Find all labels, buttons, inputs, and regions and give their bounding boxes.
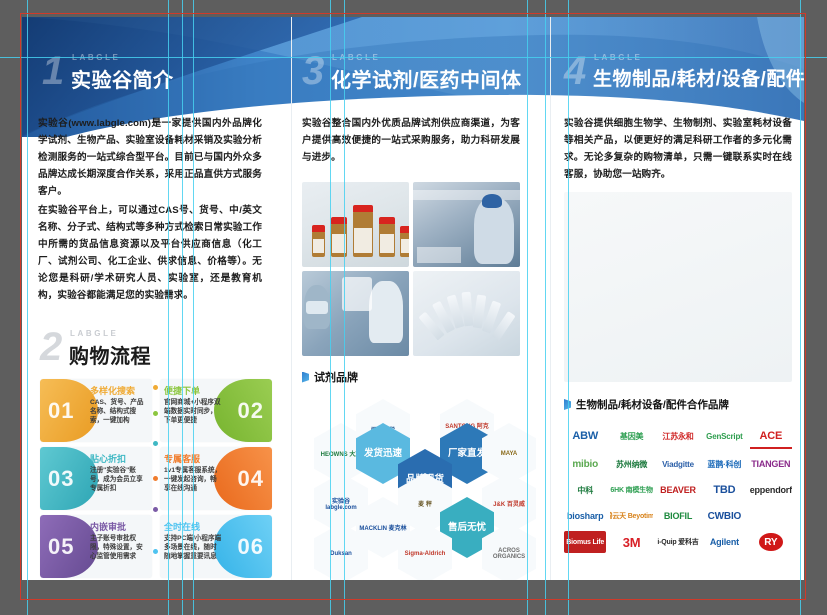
reagent-brand-honeycomb: 强盛化学 SANTONG 阿克索 HEOWNS 大茂 发货迅速 厂家直发 MAY… [300, 399, 524, 579]
partner-logo [750, 505, 792, 527]
process-step[interactable]: 02 便捷下单 官网商城+小程序双端数据实时同步，下单更便捷 [160, 379, 272, 442]
intro-paragraph-2: 在实验谷平台上，可以通过CAS号、货号、中/英文名称、分子式、结构式等多种方式检… [38, 202, 262, 304]
partner-logo: CWBIO [703, 505, 745, 527]
lab-staff-photo [302, 271, 409, 356]
process-step[interactable]: 05 内嵌审批 主子账号审批权限，特殊设置，安心监管使用需求 [40, 515, 152, 578]
guide-vertical [344, 0, 345, 615]
section-heading: 实验谷简介 [71, 64, 174, 93]
hex-brand-label: MACKLIN 麦克林 [356, 520, 409, 535]
partner-logo: RY [759, 533, 783, 551]
step-title: 多样化搜索 [90, 385, 148, 397]
step-index: 01 [48, 398, 74, 424]
partner-logo-grid: ABW 基因美 江苏永和 GenScript ACE mibio 苏州纳微 Vi… [564, 425, 792, 553]
step-title: 内嵌审批 [90, 521, 148, 533]
guide-vertical [168, 0, 169, 615]
fold-line [291, 17, 292, 580]
section-heading: 购物流程 [69, 340, 151, 369]
hex-brand-label: MAYA [498, 448, 521, 460]
step-index: 06 [238, 534, 264, 560]
guide-horizontal [0, 57, 827, 58]
reagent-paragraph: 实验谷整合国内外优质品牌试剂供应商渠道，为客户提供高效便捷的一站式采购服务，助力… [302, 115, 520, 166]
section-heading: 化学试剂/医药中间体 [331, 64, 522, 93]
connector-dot [153, 411, 158, 416]
step-index: 03 [48, 466, 74, 492]
hex-core-label: 发货迅速 [364, 447, 402, 460]
shopping-process-steps: 01 多样化搜索 CAS、货号、产品名称、结构式搜索，一键加构 02 便捷下单 … [40, 379, 272, 579]
guide-vertical [527, 0, 528, 615]
fume-hood-technician-photo [413, 182, 520, 267]
partner-logo: Viadgitte [657, 453, 699, 475]
step-desc: CAS、货号、产品名称、结构式搜索，一键加构 [90, 398, 148, 425]
partner-logo: TIANGEN [750, 453, 792, 475]
guide-vertical [330, 0, 331, 615]
process-step[interactable]: 04 专属客服 1v1专属客服系统，一键发起咨询，畅享在线沟通 [160, 447, 272, 510]
connector-dot [153, 441, 158, 446]
guide-vertical [545, 0, 546, 615]
partner-logo: TBD [703, 479, 745, 501]
partner-logo: 碧云天 Beyotime [610, 505, 652, 527]
partner-brands-heading: 生物制品/耗材设备/配件合作品牌 [576, 397, 729, 412]
partner-logo: eppendorf [750, 479, 792, 501]
guide-vertical [193, 0, 194, 615]
partner-logo: Biomus Life [564, 531, 606, 553]
partner-logo: 6HK 南模生物 [610, 479, 652, 501]
guide-vertical [800, 0, 801, 615]
partner-logo: BIOFIL [657, 505, 699, 527]
bioproducts-image-placeholder [564, 192, 792, 382]
partner-logo: 中科 [564, 479, 606, 501]
reagent-bottles-photo [302, 182, 409, 267]
guide-vertical [568, 0, 569, 615]
partner-brands-heading-row: 生物制品/耗材设备/配件合作品牌 [564, 397, 729, 412]
bioproducts-paragraph: 实验谷提供细胞生物学、生物制剂、实验室耗材设备等相关产品，以便更好的满足科研工作… [564, 115, 792, 183]
connector-dot [153, 385, 158, 390]
connector-dot [153, 476, 158, 481]
guide-vertical [27, 0, 28, 615]
connector-dot [153, 549, 158, 554]
hex-core-label: 售后无忧 [448, 521, 486, 534]
step-index: 05 [48, 534, 74, 560]
connector-dot [153, 507, 158, 512]
reagent-brands-heading: 试剂品牌 [314, 369, 358, 385]
process-step[interactable]: 06 全时在线 支持PC端/小程序端多场景在线，随时随地掌握重要讯息 [160, 515, 272, 578]
partner-logo: 3M [610, 531, 652, 553]
partner-logo: mibio [564, 453, 606, 475]
partner-logo: 蓝鹊·科创 [703, 453, 745, 475]
partner-logo: ACE [750, 425, 792, 449]
panel-right: 4 LABGLE 生物制品/耗材/设备/配件 实验谷提供细胞生物学、生物制剂、实… [554, 17, 804, 580]
section-heading: 生物制品/耗材/设备/配件 [593, 64, 804, 91]
step-desc: 主子账号审批权限，特殊设置，安心监管使用需求 [90, 534, 148, 561]
hex-brand-label: J&K 百灵威 [490, 496, 528, 511]
partner-logo: biosharp [564, 505, 606, 527]
partner-logo: 苏州纳微 [610, 453, 652, 475]
panel-left: 1 LABGLE 实验谷简介 实验谷(www.labgle.com)是一家提供国… [22, 17, 290, 580]
step-title: 贴心折扣 [90, 453, 148, 465]
pipette-tips-photo [413, 271, 520, 356]
step-index: 04 [238, 466, 264, 492]
design-canvas: 1 LABGLE 实验谷简介 实验谷(www.labgle.com)是一家提供国… [0, 0, 827, 615]
hex-brand-label: 麦 秤 [415, 496, 435, 511]
partner-logo: 基因美 [610, 425, 652, 447]
brochure-artboard: 1 LABGLE 实验谷简介 实验谷(www.labgle.com)是一家提供国… [22, 17, 804, 580]
step-index: 02 [238, 398, 264, 424]
partner-logo: i-Quip 爱科吉 [657, 531, 699, 553]
process-step[interactable]: 01 多样化搜索 CAS、货号、产品名称、结构式搜索，一键加构 [40, 379, 152, 442]
partner-logo: GenScript [703, 425, 745, 447]
partner-logo: 江苏永和 [657, 425, 699, 447]
reagent-photo-grid [302, 182, 520, 356]
intro-paragraph-1: 实验谷(www.labgle.com)是一家提供国内外品牌化学试剂、生物产品、实… [38, 115, 262, 200]
partner-logo: ABW [564, 425, 606, 447]
partner-logo: BEAVER [657, 479, 699, 501]
process-step[interactable]: 03 贴心折扣 注册"实验谷"账号，成为会员立享专属折扣 [40, 447, 152, 510]
hex-brand-label: Duksan [327, 548, 355, 560]
section-number: 2 [40, 327, 61, 367]
fold-line [550, 17, 551, 580]
guide-vertical [182, 0, 183, 615]
step-desc: 注册"实验谷"账号，成为会员立享专属折扣 [90, 466, 148, 493]
hex-core-label: 厂家直发 [448, 447, 486, 460]
partner-logo: Agilent [703, 531, 745, 553]
hex-brand-label: Sigma-Aldrich [402, 548, 449, 560]
section-marker-icon [302, 372, 309, 383]
section-kicker: LABGLE [70, 329, 119, 338]
